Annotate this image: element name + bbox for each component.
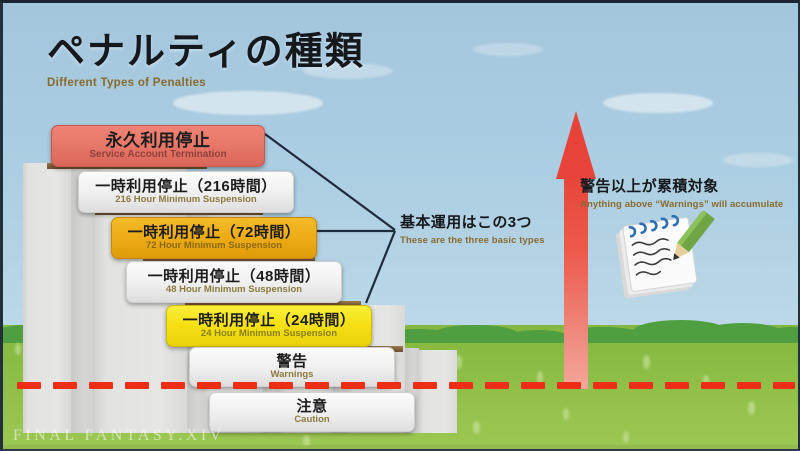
- annotation-en: Anything above “Warnings” will accumulat…: [580, 199, 783, 210]
- penalty-types-slide: 永久利用停止 Service Account Termination 一時利用停…: [0, 0, 800, 451]
- penalty-box-caution[interactable]: 注意 Caution: [209, 392, 415, 432]
- title-jp: ペナルティの種類: [47, 33, 365, 71]
- page-title: ペナルティの種類 Different Types of Penalties: [47, 33, 365, 89]
- penalty-label-en: Service Account Termination: [89, 150, 226, 161]
- penalty-box-permanent-ban[interactable]: 永久利用停止 Service Account Termination: [51, 125, 265, 167]
- penalty-label-jp: 一時利用停止（216時間）: [95, 179, 277, 195]
- penalty-box-warnings[interactable]: 警告 Warnings: [189, 347, 395, 387]
- penalty-box-72h[interactable]: 一時利用停止（72時間） 72 Hour Minimum Suspension: [111, 217, 317, 259]
- penalty-label-en: 72 Hour Minimum Suspension: [146, 241, 282, 251]
- annotation-accumulate: 警告以上が累積対象 Anything above “Warnings” will…: [580, 179, 783, 210]
- arrow-head: [556, 111, 596, 179]
- penalty-label-en: 48 Hour Minimum Suspension: [166, 285, 302, 295]
- dashed-threshold-line: [3, 382, 800, 389]
- penalty-label-en: Caution: [294, 415, 329, 425]
- final-fantasy-watermark: FINAL FANTASY.XIV: [13, 427, 225, 445]
- penalty-box-24h[interactable]: 一時利用停止（24時間） 24 Hour Minimum Suspension: [166, 305, 372, 347]
- penalty-label-en: 24 Hour Minimum Suspension: [201, 329, 337, 339]
- penalty-label-jp: 永久利用停止: [106, 132, 211, 150]
- penalty-box-216h[interactable]: 一時利用停止（216時間） 216 Hour Minimum Suspensio…: [78, 171, 294, 213]
- penalty-label-jp: 一時利用停止（24時間）: [183, 313, 356, 329]
- annotation-basic-types: 基本運用はこの3つ These are the three basic type…: [400, 215, 545, 246]
- upward-red-arrow: [556, 111, 596, 389]
- penalty-label-jp: 警告: [276, 354, 307, 370]
- notepad-with-pencil-icon: [611, 211, 716, 299]
- annotation-en: These are the three basic types: [400, 235, 545, 246]
- penalty-label-en: Warnings: [271, 370, 314, 380]
- penalty-label-jp: 一時利用停止（48時間）: [148, 269, 321, 285]
- penalty-label-en: 216 Hour Minimum Suspension: [115, 195, 256, 205]
- annotation-jp: 基本運用はこの3つ: [400, 215, 545, 232]
- penalty-box-48h[interactable]: 一時利用停止（48時間） 48 Hour Minimum Suspension: [126, 261, 342, 303]
- penalty-label-jp: 注意: [296, 399, 327, 415]
- penalty-label-jp: 一時利用停止（72時間）: [128, 225, 301, 241]
- title-en: Different Types of Penalties: [47, 77, 365, 89]
- annotation-jp: 警告以上が累積対象: [580, 179, 783, 196]
